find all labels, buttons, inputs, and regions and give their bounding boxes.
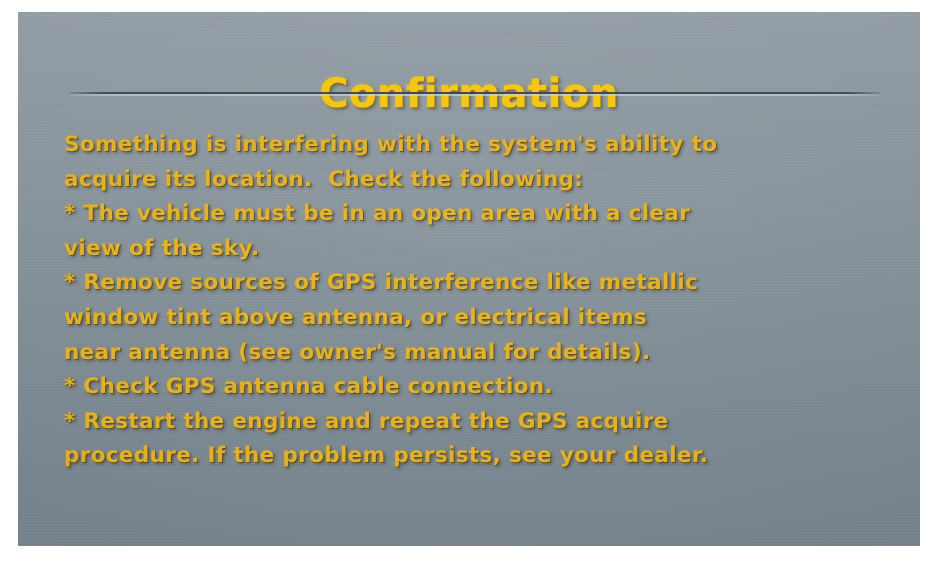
message-line: Something is interfering with the system… bbox=[64, 128, 896, 163]
message-line: window tint above antenna, or electrical… bbox=[64, 301, 896, 336]
message-line-bullet: * Check GPS antenna cable connection. bbox=[64, 370, 896, 405]
message-line: procedure. If the problem persists, see … bbox=[64, 439, 896, 474]
separator-light-edge bbox=[70, 94, 880, 96]
screenshot-root: Confirmation Something is interfering wi… bbox=[0, 0, 941, 561]
message-line: view of the sky. bbox=[64, 232, 896, 267]
message-line-bullet: * Restart the engine and repeat the GPS … bbox=[64, 405, 896, 440]
title-separator bbox=[70, 92, 880, 96]
dialog-message-body: Something is interfering with the system… bbox=[64, 128, 896, 474]
message-line-bullet: * The vehicle must be in an open area wi… bbox=[64, 197, 896, 232]
message-line-bullet: * Remove sources of GPS interference lik… bbox=[64, 266, 896, 301]
message-line: acquire its location. Check the followin… bbox=[64, 163, 896, 198]
vehicle-display-panel: Confirmation Something is interfering wi… bbox=[18, 12, 920, 546]
message-line: near antenna (see owner's manual for det… bbox=[64, 336, 896, 371]
